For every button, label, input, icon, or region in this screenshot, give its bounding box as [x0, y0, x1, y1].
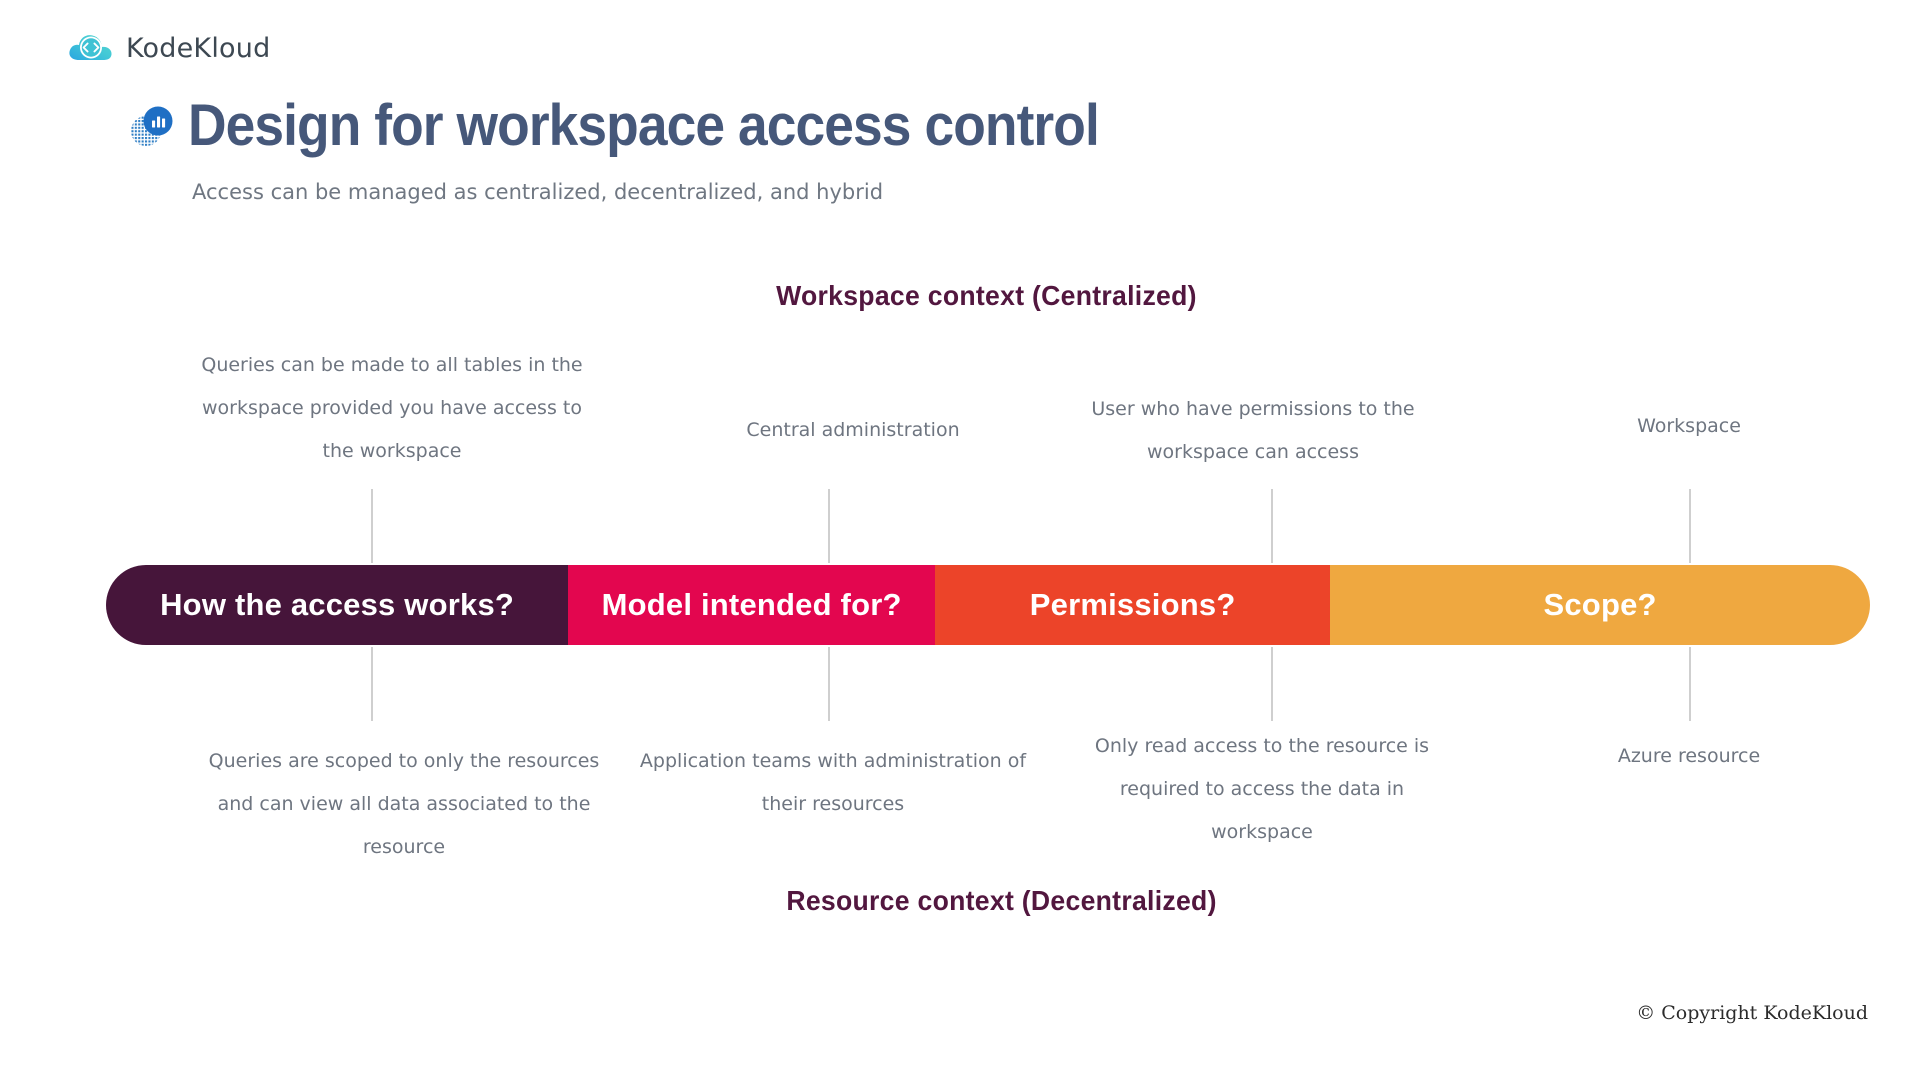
workspace-context-heading: Workspace context (Centralized) [776, 280, 1197, 312]
globe-bar-chart-icon [128, 103, 174, 149]
connector-top-3 [1271, 489, 1273, 563]
annotation-bottom-4: Azure resource [1494, 735, 1884, 778]
annotation-bottom-2: Application teams with administration of… [620, 740, 1046, 826]
annotation-top-4: Workspace [1494, 405, 1884, 448]
bar-segment-permissions[interactable]: Permissions? [935, 565, 1330, 645]
access-model-bar: How the access works? Model intended for… [106, 565, 1870, 645]
brand-name: KodeKloud [126, 33, 270, 64]
connector-bottom-2 [828, 647, 830, 721]
annotation-bottom-3: Only read access to the resource is requ… [1078, 725, 1446, 854]
connector-bottom-4 [1689, 647, 1691, 721]
connector-top-1 [371, 489, 373, 563]
annotation-top-2: Central administration [660, 409, 1046, 452]
connector-top-4 [1689, 489, 1691, 563]
kodekloud-cloud-code-icon [68, 30, 114, 66]
bar-segment-how-the-access-works[interactable]: How the access works? [106, 565, 568, 645]
annotation-top-1: Queries can be made to all tables in the… [184, 344, 600, 473]
page-title-row: Design for workspace access control [128, 92, 1178, 159]
resource-context-heading: Resource context (Decentralized) [786, 885, 1216, 917]
copyright-text: © Copyright KodeKloud [1636, 1002, 1868, 1024]
page-subtitle: Access can be managed as centralized, de… [192, 180, 883, 204]
annotation-top-3: User who have permissions to the workspa… [1058, 388, 1448, 474]
connector-top-2 [828, 489, 830, 563]
bar-segment-scope[interactable]: Scope? [1330, 565, 1870, 645]
page-title: Design for workspace access control [188, 92, 1099, 159]
slide-canvas: KodeKloud Design for workspace access co… [0, 0, 1920, 1080]
connector-bottom-3 [1271, 647, 1273, 721]
brand-logo-group: KodeKloud [68, 30, 270, 66]
annotation-bottom-1: Queries are scoped to only the resources… [196, 740, 612, 869]
connector-bottom-1 [371, 647, 373, 721]
bar-segment-model-intended-for[interactable]: Model intended for? [568, 565, 935, 645]
